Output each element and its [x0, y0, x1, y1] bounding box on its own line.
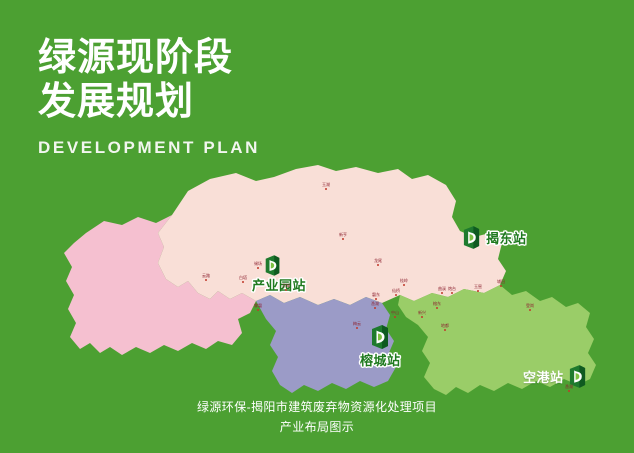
station-label-konggang: 空港站 [523, 367, 564, 386]
caption-block: 绿源环保-揭阳市建筑废弃物资源化处理项目 产业布局图示 [0, 397, 634, 437]
map-region-north[interactable] [158, 165, 506, 305]
lvyuan-logo-icon [264, 255, 281, 276]
station-label-jiedong: 揭东站 [486, 228, 527, 247]
development-plan-poster: 绿源现阶段 发展规划 DEVELOPMENT PLAN [0, 0, 634, 453]
caption-line-2: 产业布局图示 [0, 417, 634, 437]
station-label-chanyeyuan: 产业园站 [252, 275, 306, 294]
caption-line-1: 绿源环保-揭阳市建筑废弃物资源化处理项目 [0, 397, 634, 417]
page-title-line-2: 发展规划 [38, 80, 368, 124]
station-label-rongcheng: 榕城站 [360, 350, 401, 369]
station-marker-chanyeyuan[interactable]: 产业园站 [252, 275, 306, 294]
title-block: 绿源现阶段 发展规划 DEVELOPMENT PLAN [38, 36, 368, 158]
page-title-line-1: 绿源现阶段 [38, 36, 368, 80]
station-marker-jiedong[interactable]: 揭东站 [462, 226, 527, 249]
station-marker-rongcheng[interactable]: 榕城站 [360, 325, 401, 369]
station-marker-konggang[interactable]: 空港站 [523, 365, 587, 388]
lvyuan-logo-icon [370, 325, 390, 349]
lvyuan-logo-icon [462, 226, 481, 249]
lvyuan-logo-icon [568, 365, 587, 388]
